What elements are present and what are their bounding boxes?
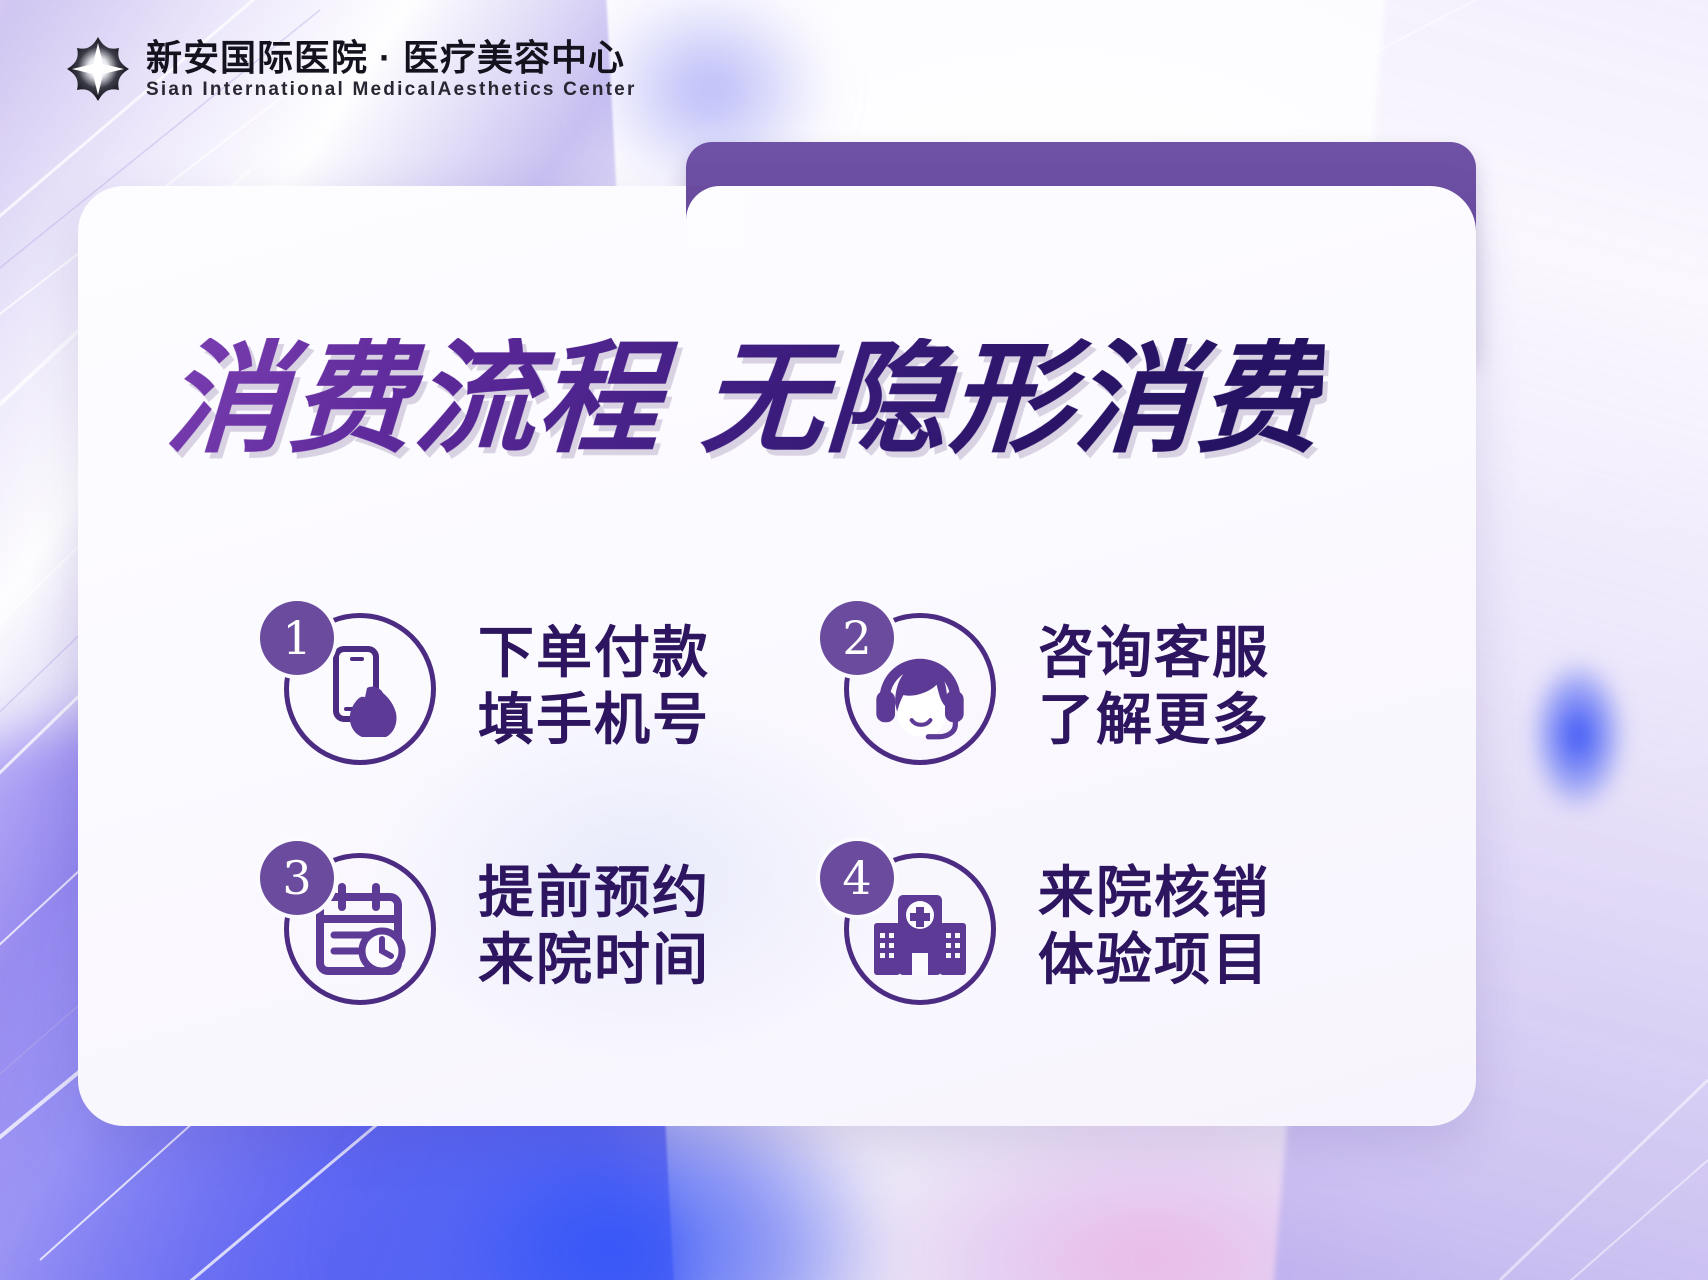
step-3-badge: 3 [252,831,442,1021]
step-4-line1: 来院核销 [1038,863,1270,922]
four-point-star-icon [66,36,130,102]
brand-logo: 新安国际医院 · 医疗美容中心 Sian International Medic… [66,36,637,102]
step-3-line2: 来院时间 [478,930,710,989]
brand-text-block: 新安国际医院 · 医疗美容中心 Sian International Medic… [146,40,637,99]
step-3-label: 提前预约 来院时间 [478,863,710,990]
step-2-number: 2 [820,601,894,675]
page-title-part1: 消费流程 [162,328,665,470]
page-title-part2: 无隐形消费 [698,328,1325,470]
step-4-label: 来院核销 体验项目 [1038,863,1270,990]
poster-root: 新安国际医院 · 医疗美容中心 Sian International Medic… [0,0,1708,1280]
page-title: 消费流程无隐形消费 [163,338,1325,460]
step-4-number: 4 [820,841,894,915]
step-1-line2: 填手机号 [478,690,710,749]
step-item-4: 4 来院核销 体验项目 [812,806,1372,1046]
step-3-number: 3 [260,841,334,915]
brand-name-cn: 新安国际医院 · 医疗美容中心 [146,40,637,76]
step-2-line2: 了解更多 [1038,690,1270,749]
step-item-3: 3 提前预约 来院时间 [252,806,812,1046]
step-1-badge: 1 [252,591,442,781]
folder-tab-notch [686,186,746,246]
step-2-line1: 咨询客服 [1038,623,1270,682]
step-4-badge: 4 [812,831,1002,1021]
step-3-line1: 提前预约 [478,863,710,922]
step-1-line1: 下单付款 [478,623,710,682]
step-item-1: 1 下单付款 填手机号 [252,566,812,806]
steps-grid: 1 下单付款 填手机号 [252,566,1372,1046]
step-2-label: 咨询客服 了解更多 [1038,623,1270,750]
step-2-badge: 2 [812,591,1002,781]
step-1-number: 1 [260,601,334,675]
step-1-label: 下单付款 填手机号 [478,623,710,750]
step-4-line2: 体验项目 [1038,930,1270,989]
brand-name-en: Sian International MedicalAesthetics Cen… [146,80,637,99]
step-item-2: 2 咨询客服 了解更多 [812,566,1372,806]
background-right-blue-orb [1518,640,1638,830]
